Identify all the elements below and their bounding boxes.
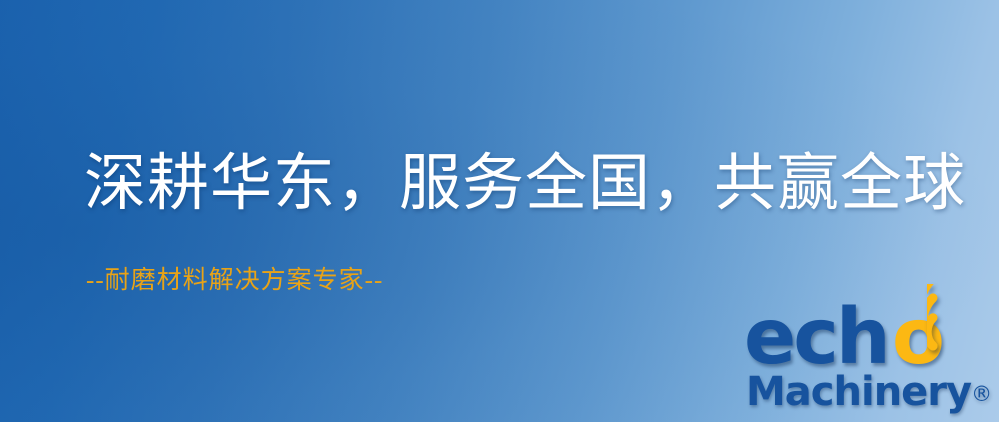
logo-tagline: Machinery® <box>746 368 992 418</box>
echo-machinery-logo[interactable]: ech o Machinery® <box>742 296 999 422</box>
logo-text-ech: ech <box>744 298 888 378</box>
hero-banner: 深耕华东，服务全国，共赢全球 --耐磨材料解决方案专家-- ech o Mach… <box>0 0 999 422</box>
banner-subheadline: --耐磨材料解决方案专家-- <box>86 266 383 296</box>
signal-waves-icon <box>927 284 999 354</box>
banner-headline: 深耕华东，服务全国，共赢全球 <box>84 152 966 217</box>
logo-wordmark: ech o <box>742 296 999 376</box>
logo-tagline-text: Machinery <box>746 369 971 415</box>
registered-trademark-icon: ® <box>971 382 992 406</box>
